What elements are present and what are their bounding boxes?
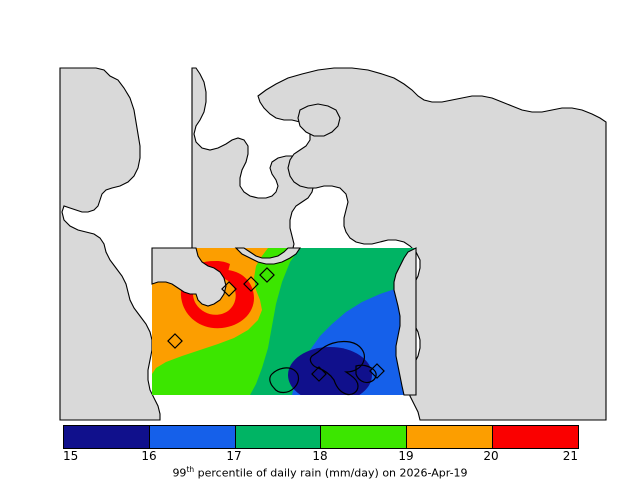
map-panel [0,0,640,480]
colorbar-caption-suffix: percentile of daily rain (mm/day) on 202… [194,467,467,480]
weather-map-page: VictoriaWeather.ca —— Summer Total Daily… [0,0,640,480]
colorbar-caption-prefix: 99 [172,467,186,480]
colorbar-tick-21: 21 [538,449,578,463]
colorbar-segment-2[interactable] [236,426,322,448]
colorbar-segment-4[interactable] [407,426,493,448]
colorbar-segment-3[interactable] [321,426,407,448]
colorbar-caption: 99th percentile of daily rain (mm/day) o… [0,465,640,480]
colorbar-caption-superscript: th [186,465,194,474]
colorbar-tick-15: 15 [63,449,103,463]
colorbar-segment-1[interactable] [150,426,236,448]
colorbar-segment-5[interactable] [493,426,578,448]
colorbar-tick-17: 17 [214,449,254,463]
colorbar[interactable] [63,425,579,449]
colorbar-panel: 15 16 17 18 19 20 21 99th percentile of … [0,420,640,480]
colorbar-tick-16: 16 [129,449,169,463]
colorbar-ticks: 15 16 17 18 19 20 21 [0,449,640,465]
colorbar-tick-20: 20 [471,449,511,463]
colorbar-segment-0[interactable] [64,426,150,448]
colorbar-tick-18: 18 [300,449,340,463]
colorbar-tick-19: 19 [386,449,426,463]
map-svg [0,0,640,480]
